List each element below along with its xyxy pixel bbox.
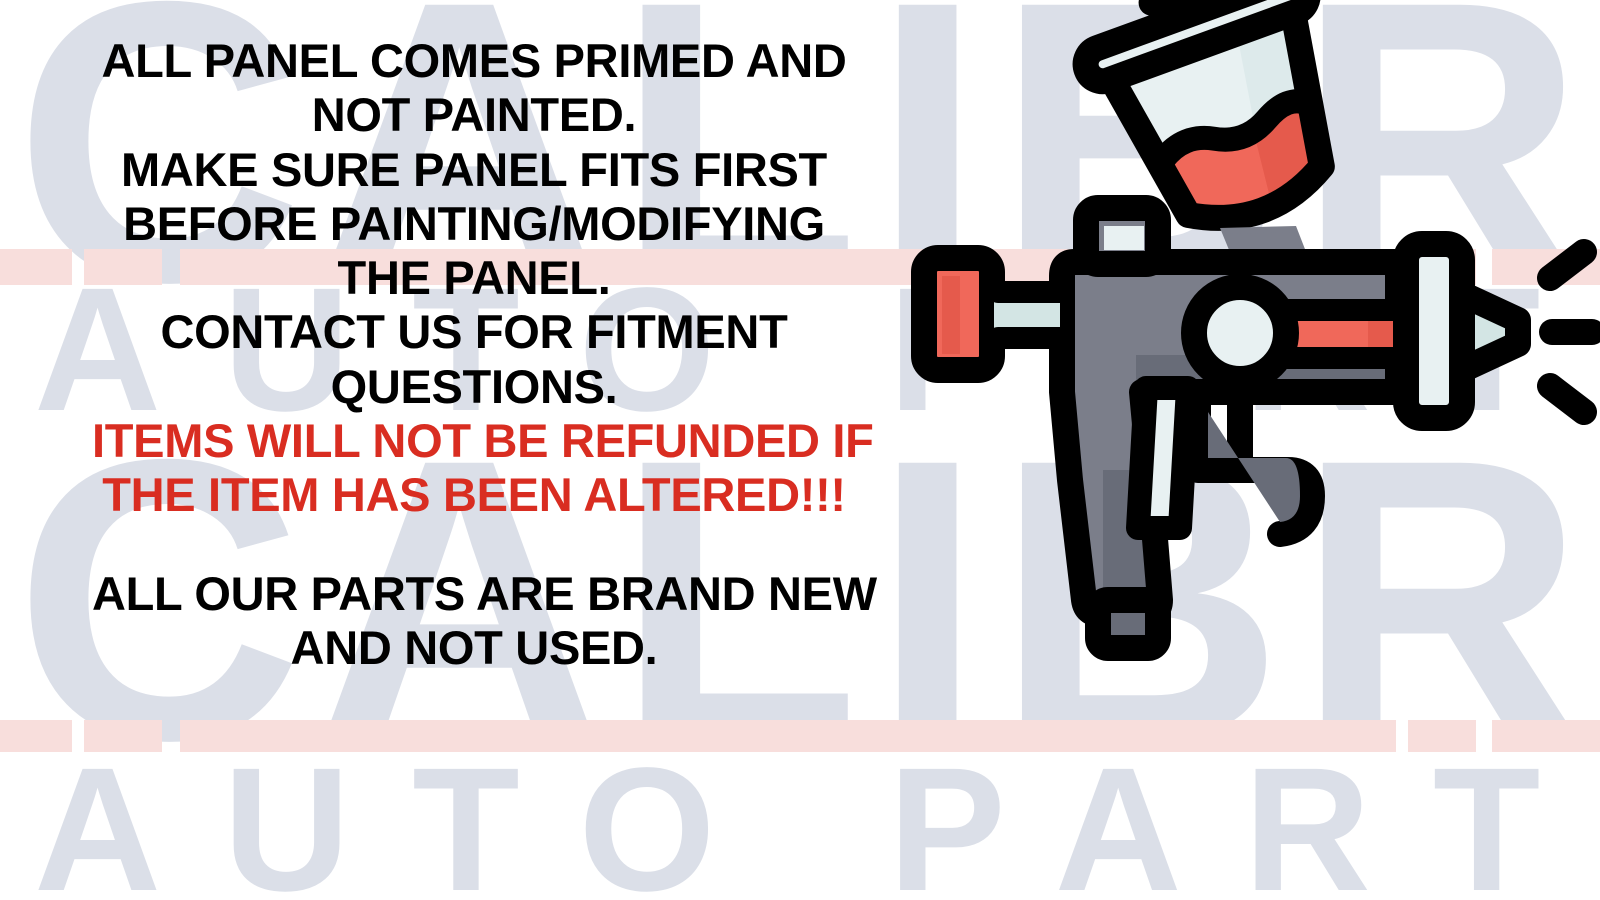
- notice-line: NOT PAINTED.: [92, 88, 856, 142]
- stripe-segment-bottom-1: [84, 720, 162, 752]
- notice-line: THE PANEL.: [92, 251, 856, 305]
- notice-text-block: ALL PANEL COMES PRIMED ANDNOT PAINTED.MA…: [92, 34, 856, 675]
- notice-line: ITEMS WILL NOT BE REFUNDED IF: [92, 414, 856, 468]
- stripe-segment-bottom-3: [1408, 720, 1476, 752]
- notice-line: CONTACT US FOR FITMENT: [92, 305, 856, 359]
- paint-spray-gun-icon: [898, 0, 1600, 682]
- notice-line: AND NOT USED.: [92, 621, 856, 675]
- notice-line: BEFORE PAINTING/MODIFYING: [92, 197, 856, 251]
- stripe-segment-bottom-2: [180, 720, 1396, 752]
- stripe-segment-bottom-4: [1492, 720, 1600, 752]
- notice-line: MAKE SURE PANEL FITS FIRST: [92, 143, 856, 197]
- notice-line: QUESTIONS.: [92, 360, 856, 414]
- stripe-segment-bottom-0: [0, 720, 72, 752]
- notice-line: ALL PANEL COMES PRIMED AND: [92, 34, 856, 88]
- notice-line-spacer: [92, 523, 856, 567]
- stripe-segment-top-0: [0, 249, 72, 285]
- notice-line: THE ITEM HAS BEEN ALTERED!!!: [92, 468, 856, 522]
- notice-line: ALL OUR PARTS ARE BRAND NEW: [92, 567, 856, 621]
